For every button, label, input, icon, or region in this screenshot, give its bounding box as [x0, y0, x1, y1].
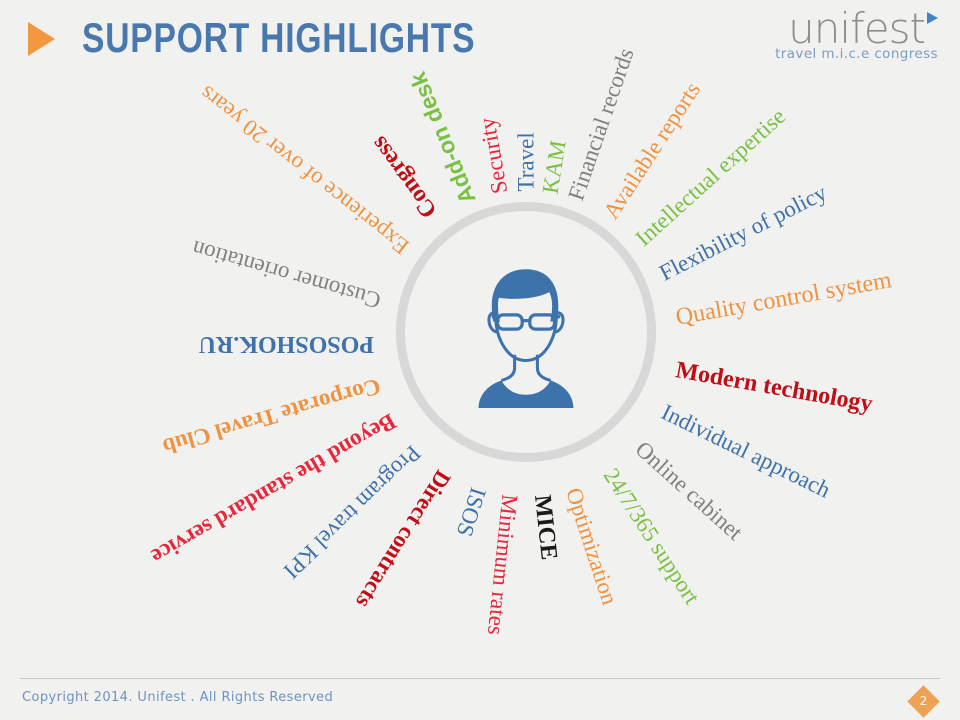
highlight-label: Experience of over 20 years: [196, 82, 413, 259]
highlight-label: Quality control system: [674, 268, 893, 330]
highlight-label: Customer orientation: [189, 237, 383, 313]
page-number-badge: 2: [907, 685, 940, 718]
page-number-text: 2: [912, 690, 935, 713]
highlight-label: Optimization: [562, 484, 621, 607]
highlight-label: KAM: [538, 139, 569, 196]
footer-divider: [20, 678, 940, 679]
highlight-label: ISOS: [453, 484, 490, 539]
copyright-text: Copyright 2014. Unifest . All Rights Res…: [22, 690, 333, 705]
radial-label-cloud: Experience of over 20 yearsCongressAdd-o…: [0, 0, 960, 720]
highlight-label: MICE: [530, 494, 561, 561]
highlight-label: Minimum rates: [484, 493, 522, 636]
highlight-label: Security: [475, 116, 511, 195]
highlight-label: Modern technology: [674, 359, 874, 417]
highlight-label: POSOSHOK.RU: [199, 332, 374, 356]
slide-canvas: SUPPORT HIGHLIGHTS unifest travel m.i.c.…: [0, 0, 960, 720]
highlight-label: Travel: [515, 132, 538, 191]
